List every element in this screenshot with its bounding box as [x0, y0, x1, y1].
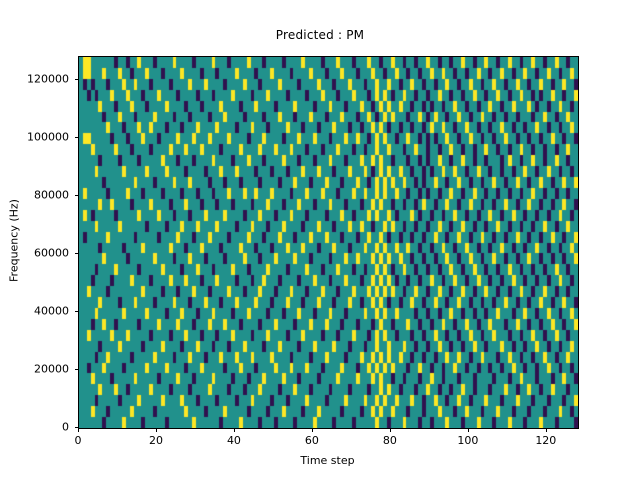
x-axis-label: Time step: [78, 454, 577, 467]
y-tick-label: 20000: [0, 363, 69, 376]
x-tick-label: 100: [457, 434, 478, 447]
x-tick-label: 60: [305, 434, 319, 447]
x-tick-label: 80: [383, 434, 397, 447]
y-tick-label: 0: [0, 421, 69, 434]
heatmap-axes: [78, 56, 579, 429]
matplotlib-figure: Predicted : PM 0200004000060000800001000…: [0, 0, 640, 480]
x-tick-label: 0: [75, 434, 82, 447]
page-title: Predicted : PM: [0, 28, 640, 42]
x-tick-label: 20: [149, 434, 163, 447]
x-tick-label: 40: [227, 434, 241, 447]
x-tick-label: 120: [535, 434, 556, 447]
heatmap-canvas: [79, 57, 578, 428]
y-axis-label: Frequency (Hz): [8, 140, 21, 340]
y-tick-label: 120000: [0, 73, 69, 86]
